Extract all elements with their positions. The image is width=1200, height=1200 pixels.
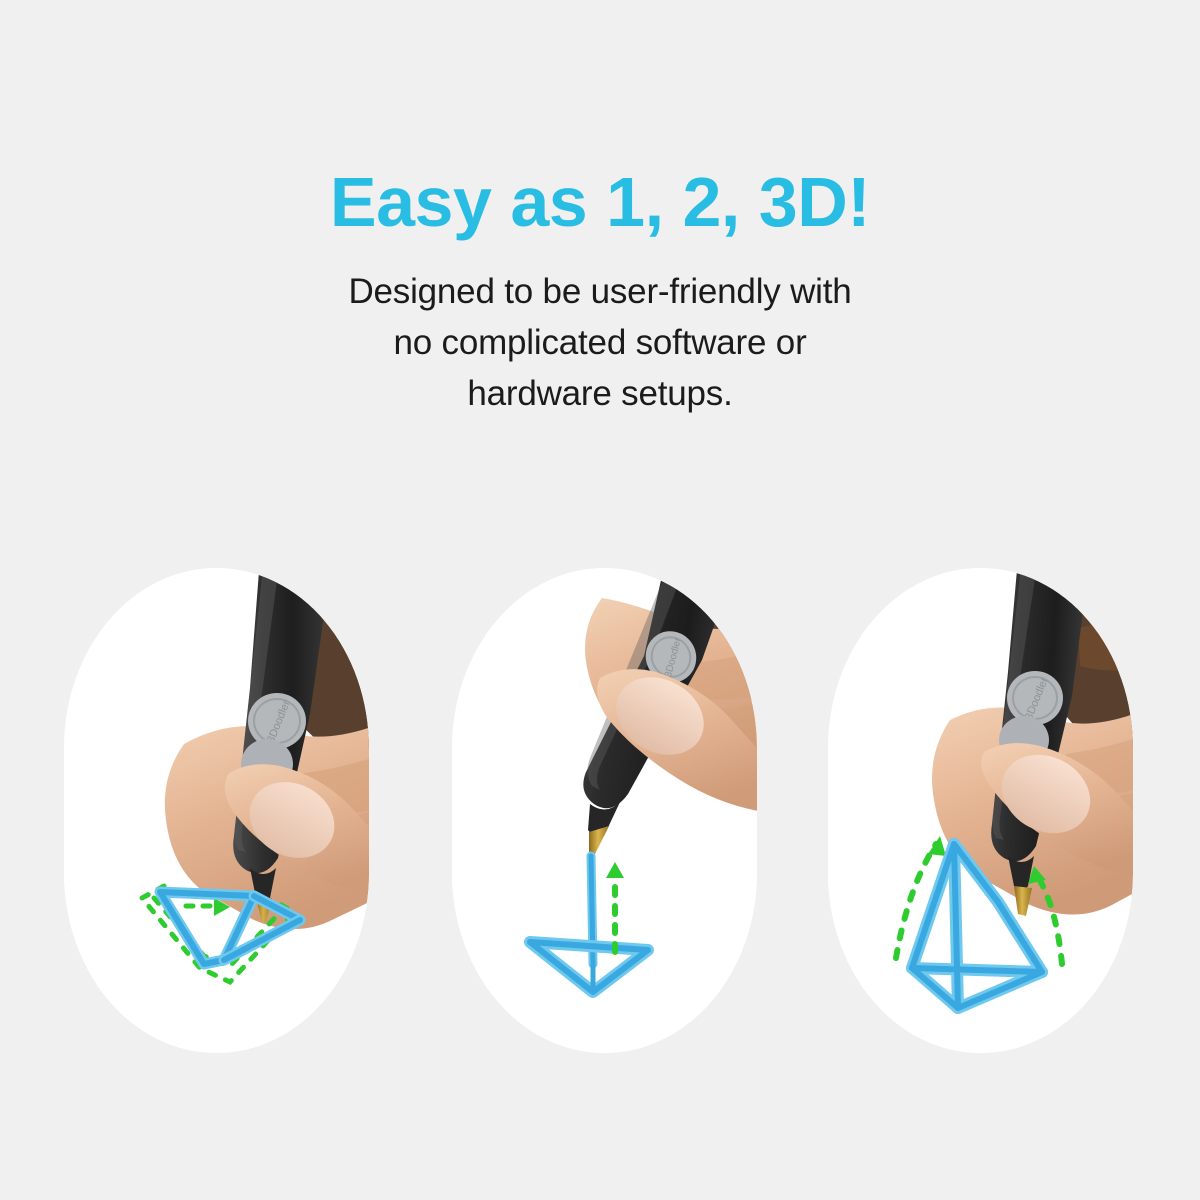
page-title: Easy as 1, 2, 3D!: [0, 160, 1200, 244]
pyramid-base-back: [912, 968, 1042, 972]
step-3-illustration: 3Doodler: [828, 568, 1133, 1053]
subtitle-line-2: no complicated software or: [290, 317, 910, 368]
step-panel-1: 3Doodler: [64, 568, 369, 1053]
promo-page: Easy as 1, 2, 3D! Designed to be user-fr…: [0, 0, 1200, 1200]
header-block: Easy as 1, 2, 3D! Designed to be user-fr…: [0, 160, 1200, 419]
subtitle-line-1: Designed to be user-friendly with: [290, 266, 910, 317]
step-1-illustration: 3Doodler: [64, 568, 369, 1053]
subtitle-block: Designed to be user-friendly with no com…: [290, 266, 910, 419]
hand-shadow-highlight: [1078, 602, 1133, 671]
steps-row: 3Doodler: [0, 568, 1200, 1058]
subtitle-line-3: hardware setups.: [290, 368, 910, 419]
step-panel-3: 3Doodler: [828, 568, 1133, 1053]
step-panel-2: 3Doodler: [452, 568, 757, 1053]
step-2-illustration: 3Doodler: [452, 568, 757, 1053]
pyramid-spine: [954, 844, 958, 1008]
